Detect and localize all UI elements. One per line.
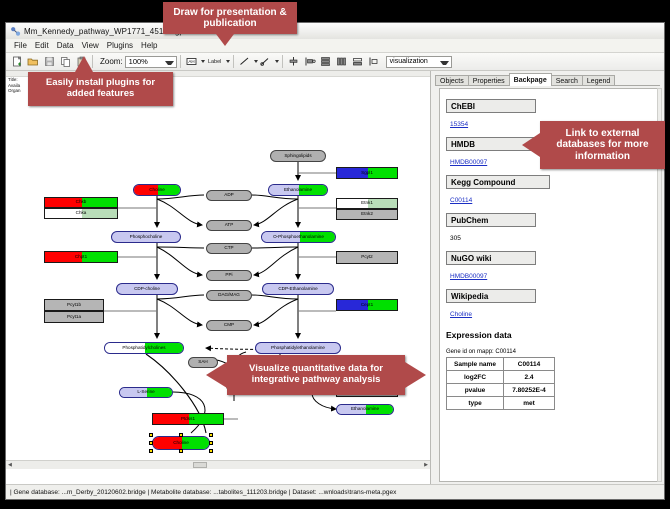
expression-table: Sample name C00114 log2FC 2.4 pvalue 7.8… bbox=[446, 357, 555, 410]
node-label: Chkb bbox=[76, 200, 87, 205]
chevron-down-icon[interactable] bbox=[275, 60, 279, 63]
stack-vertical-icon[interactable] bbox=[319, 55, 333, 69]
gene-node-cept1[interactable]: Cept1 bbox=[336, 299, 398, 311]
callout-arrow-left bbox=[522, 133, 540, 157]
node-label: CMP bbox=[224, 323, 234, 328]
selection-handle[interactable] bbox=[149, 433, 153, 437]
menu-edit[interactable]: Edit bbox=[31, 40, 53, 52]
line-tool-icon[interactable] bbox=[238, 55, 252, 69]
node-label: Sgpl1 bbox=[361, 171, 373, 176]
common-height-icon[interactable] bbox=[367, 55, 381, 69]
table-row: Sample name C00114 bbox=[447, 358, 555, 371]
node-label: Choline bbox=[173, 441, 189, 446]
tab-backpage[interactable]: Backpage bbox=[509, 73, 552, 86]
metabolite-node-ppi[interactable]: PPi bbox=[206, 270, 252, 281]
node-label: Chka bbox=[76, 211, 87, 216]
pathway-canvas[interactable]: Title: Availa Organ bbox=[6, 71, 430, 484]
node-label: CDP-Ethanolamine bbox=[278, 287, 317, 292]
table-row: log2FC 2.4 bbox=[447, 371, 555, 384]
pathway-organism-label: Organ bbox=[8, 88, 21, 94]
menu-view[interactable]: View bbox=[78, 40, 103, 52]
align-left-icon[interactable] bbox=[303, 55, 317, 69]
metabolite-node-l-serine-left[interactable]: L-Serine bbox=[119, 387, 173, 398]
node-label: DAG/MAG bbox=[218, 293, 240, 298]
node-label: Cept1 bbox=[361, 303, 373, 308]
label-tool[interactable]: Label bbox=[206, 55, 224, 69]
node-label: Phosphatidylcholines bbox=[122, 346, 165, 351]
db-link-hmdb[interactable]: HMDB00097 bbox=[450, 159, 487, 166]
metabolite-node-cmp[interactable]: CMP bbox=[206, 320, 252, 331]
zoom-label: Zoom: bbox=[100, 57, 123, 66]
node-fill-swatch bbox=[82, 252, 117, 262]
selection-handle[interactable] bbox=[149, 441, 153, 445]
node-label: Etnk1 bbox=[361, 201, 373, 206]
menu-help[interactable]: Help bbox=[137, 40, 161, 52]
expression-data-heading: Expression data bbox=[446, 330, 649, 340]
save-disk-icon[interactable] bbox=[42, 55, 56, 69]
metabolite-node-phosphatidylethanolamine[interactable]: Phosphatidylethanolamine bbox=[255, 342, 341, 354]
node-label: Ethanolamine bbox=[351, 407, 379, 412]
db-header-wikipedia: Wikipedia bbox=[446, 289, 536, 303]
db-header-pubchem: PubChem bbox=[446, 213, 536, 227]
chevron-down-icon[interactable] bbox=[254, 60, 258, 63]
toolbar: Zoom: 100% AH Label bbox=[6, 53, 664, 71]
menu-plugins[interactable]: Plugins bbox=[103, 40, 137, 52]
callout-arrow-right bbox=[405, 362, 426, 388]
toolbar-separator-4 bbox=[282, 55, 283, 68]
new-file-icon[interactable] bbox=[10, 55, 24, 69]
visualization-value: visualization bbox=[387, 58, 428, 65]
open-folder-icon[interactable] bbox=[26, 55, 40, 69]
selection-handle[interactable] bbox=[209, 441, 213, 445]
chevron-down-icon bbox=[440, 61, 449, 65]
node-label: Pcyt1b bbox=[67, 303, 81, 308]
node-label: ATP bbox=[225, 223, 234, 228]
gene-node-sgpl1[interactable]: Sgpl1 bbox=[336, 167, 398, 179]
node-label: Sphingolipids bbox=[284, 154, 311, 159]
gene-node-etnk1[interactable]: Etnk1 bbox=[336, 198, 398, 209]
metabolite-node-choline-selected[interactable]: Choline bbox=[152, 436, 210, 450]
gene-node-chka[interactable]: Chka bbox=[44, 208, 118, 219]
db-header-chebi: ChEBI bbox=[446, 99, 536, 113]
canvas-horizontal-scrollbar[interactable]: ◀ ▶ bbox=[6, 460, 430, 469]
metabolite-node-choline-top[interactable]: Choline bbox=[133, 184, 181, 196]
selection-handle[interactable] bbox=[179, 433, 183, 437]
menu-data[interactable]: Data bbox=[53, 40, 78, 52]
node-label: L-Serine bbox=[137, 390, 154, 395]
expr-label-type: type bbox=[447, 397, 504, 410]
menu-file[interactable]: File bbox=[10, 40, 31, 52]
gene-node-pcyt2[interactable]: Pcyt2 bbox=[336, 251, 398, 264]
selection-handle[interactable] bbox=[179, 449, 183, 453]
db-value-pubchem: 305 bbox=[450, 235, 461, 242]
node-label: Etnk2 bbox=[361, 212, 373, 217]
db-header-kegg-compound: Kegg Compound bbox=[446, 175, 550, 189]
table-row: pvalue 7.80252E-4 bbox=[447, 384, 555, 397]
screenshot-root: Mm_Kennedy_pathway_WP1771_45176.gpml Fil… bbox=[0, 0, 670, 509]
menu-bar: File Edit Data View Plugins Help bbox=[6, 39, 664, 53]
metabolite-node-o-phosphoethanolamine[interactable]: O-Phosphoethanolamine bbox=[261, 231, 336, 243]
gene-node-etnk2[interactable]: Etnk2 bbox=[336, 209, 398, 220]
expr-label-pvalue: pvalue bbox=[447, 384, 504, 397]
expr-value-type: met bbox=[504, 397, 555, 410]
node-label: ADP bbox=[224, 193, 233, 198]
chevron-down-icon[interactable] bbox=[201, 60, 205, 63]
pathway-title-block: Title: Availa Organ bbox=[8, 77, 21, 94]
datanode-icon[interactable]: AH bbox=[185, 55, 199, 69]
title-bar: Mm_Kennedy_pathway_WP1771_45176.gpml bbox=[6, 23, 664, 40]
gene-node-chpt1[interactable]: Chpt1 bbox=[44, 251, 118, 263]
node-fill-swatch bbox=[82, 209, 117, 218]
node-label: Choline bbox=[149, 188, 165, 193]
toolbar-separator-2 bbox=[180, 55, 181, 68]
expr-value-pvalue: 7.80252E-4 bbox=[504, 384, 555, 397]
metabolite-node-adp[interactable]: ADP bbox=[206, 190, 252, 201]
metabolite-node-phosphocholine[interactable]: Phosphocholine bbox=[111, 231, 181, 243]
table-row: type met bbox=[447, 397, 555, 410]
expr-value-sample-name: C00114 bbox=[504, 358, 555, 371]
node-label: CDP-choline bbox=[134, 287, 160, 292]
node-label: Ethanolamine bbox=[284, 188, 312, 193]
common-width-icon[interactable] bbox=[351, 55, 365, 69]
zoom-value: 100% bbox=[126, 57, 148, 66]
zoom-combobox[interactable]: 100% bbox=[125, 56, 177, 68]
callout-external-links: Link to external databases for more info… bbox=[540, 121, 665, 169]
node-label: CTP bbox=[224, 246, 233, 251]
db-header-nugo-wiki: NuGO wiki bbox=[446, 251, 536, 265]
db-link-chebi[interactable]: 15354 bbox=[450, 121, 468, 128]
gene-id-on-mapp: Gene id on mapp: C00114 bbox=[446, 349, 649, 355]
app-icon bbox=[10, 26, 21, 37]
node-label: O-Phosphoethanolamine bbox=[273, 235, 324, 240]
node-fill-swatch bbox=[82, 198, 117, 207]
callout-install-plugins: Easily install plugins for added feature… bbox=[28, 72, 173, 106]
distribute-icon[interactable] bbox=[335, 55, 349, 69]
gene-node-chkb[interactable]: Chkb bbox=[44, 197, 118, 208]
selection-handle[interactable] bbox=[149, 449, 153, 453]
callout-arrow-up bbox=[75, 56, 93, 72]
node-label: Pcyt1a bbox=[67, 315, 81, 320]
metabolite-node-cdp-ethanolamine[interactable]: CDP-Ethanolamine bbox=[262, 283, 334, 295]
selection-handle[interactable] bbox=[209, 449, 213, 453]
callout-draw-for-publication: Draw for presentation & publication bbox=[163, 2, 297, 34]
db-link-wikipedia[interactable]: Choline bbox=[450, 311, 472, 318]
node-label: Chpt1 bbox=[75, 255, 87, 260]
pathway-canvas-pane[interactable]: Title: Availa Organ bbox=[6, 71, 431, 484]
metabolite-node-ethanolamine-top[interactable]: Ethanolamine bbox=[268, 184, 328, 196]
chevron-down-icon[interactable] bbox=[226, 60, 230, 63]
selection-handle[interactable] bbox=[209, 433, 213, 437]
chevron-down-icon bbox=[165, 61, 174, 65]
db-link-nugo-wiki[interactable]: HMDB00097 bbox=[450, 273, 487, 280]
node-label: Phosphocholine bbox=[130, 235, 163, 240]
gene-node-pcyt1a[interactable]: Pcyt1a bbox=[44, 311, 104, 323]
toolbar-separator-3 bbox=[233, 55, 234, 68]
status-bar: | Gene database: ...m_Derby_20120602.bri… bbox=[6, 484, 664, 499]
expr-label-sample-name: Sample name bbox=[447, 358, 504, 371]
copy-icon[interactable] bbox=[58, 55, 72, 69]
node-label: Ptdss1 bbox=[181, 417, 195, 422]
status-bar-text: | Gene database: ...m_Derby_20120602.bri… bbox=[6, 489, 396, 496]
node-label: PPi bbox=[225, 273, 232, 278]
gene-node-pcyt1b[interactable]: Pcyt1b bbox=[44, 299, 104, 311]
metabolite-node-atp[interactable]: ATP bbox=[206, 220, 252, 231]
expr-label-log2fc: log2FC bbox=[447, 371, 504, 384]
node-label: Pcyt2 bbox=[361, 255, 373, 260]
callout-quantitative-data: Visualize quantitative data for integrat… bbox=[227, 355, 405, 395]
metabolite-node-dag-mag[interactable]: DAG/MAG bbox=[206, 290, 252, 301]
metabolite-node-sphingolipids[interactable]: Sphingolipids bbox=[270, 150, 326, 162]
metabolite-node-phosphatidylcholines[interactable]: Phosphatidylcholines bbox=[104, 342, 184, 354]
gene-node-ptdss1[interactable]: Ptdss1 bbox=[152, 413, 224, 425]
visualization-combobox[interactable]: visualization bbox=[386, 56, 452, 68]
callout-arrow-down bbox=[216, 34, 234, 46]
metabolite-node-ctp[interactable]: CTP bbox=[206, 243, 252, 254]
metabolite-node-cdp-choline[interactable]: CDP-choline bbox=[116, 283, 178, 295]
align-top-icon[interactable] bbox=[287, 55, 301, 69]
scroll-right-arrow[interactable]: ▶ bbox=[422, 462, 430, 468]
svg-text:AH: AH bbox=[189, 59, 195, 64]
interaction-tool-icon[interactable] bbox=[259, 55, 273, 69]
callout-arrow-left bbox=[206, 362, 227, 388]
db-link-kegg-compound[interactable]: C00114 bbox=[450, 197, 472, 204]
scroll-thumb[interactable] bbox=[193, 462, 207, 468]
node-label: Phosphatidylethanolamine bbox=[271, 346, 325, 351]
expr-value-log2fc: 2.4 bbox=[504, 371, 555, 384]
scroll-left-arrow[interactable]: ◀ bbox=[6, 462, 14, 468]
metabolite-node-ethanolamine-bottom[interactable]: Ethanolamine bbox=[336, 404, 394, 415]
